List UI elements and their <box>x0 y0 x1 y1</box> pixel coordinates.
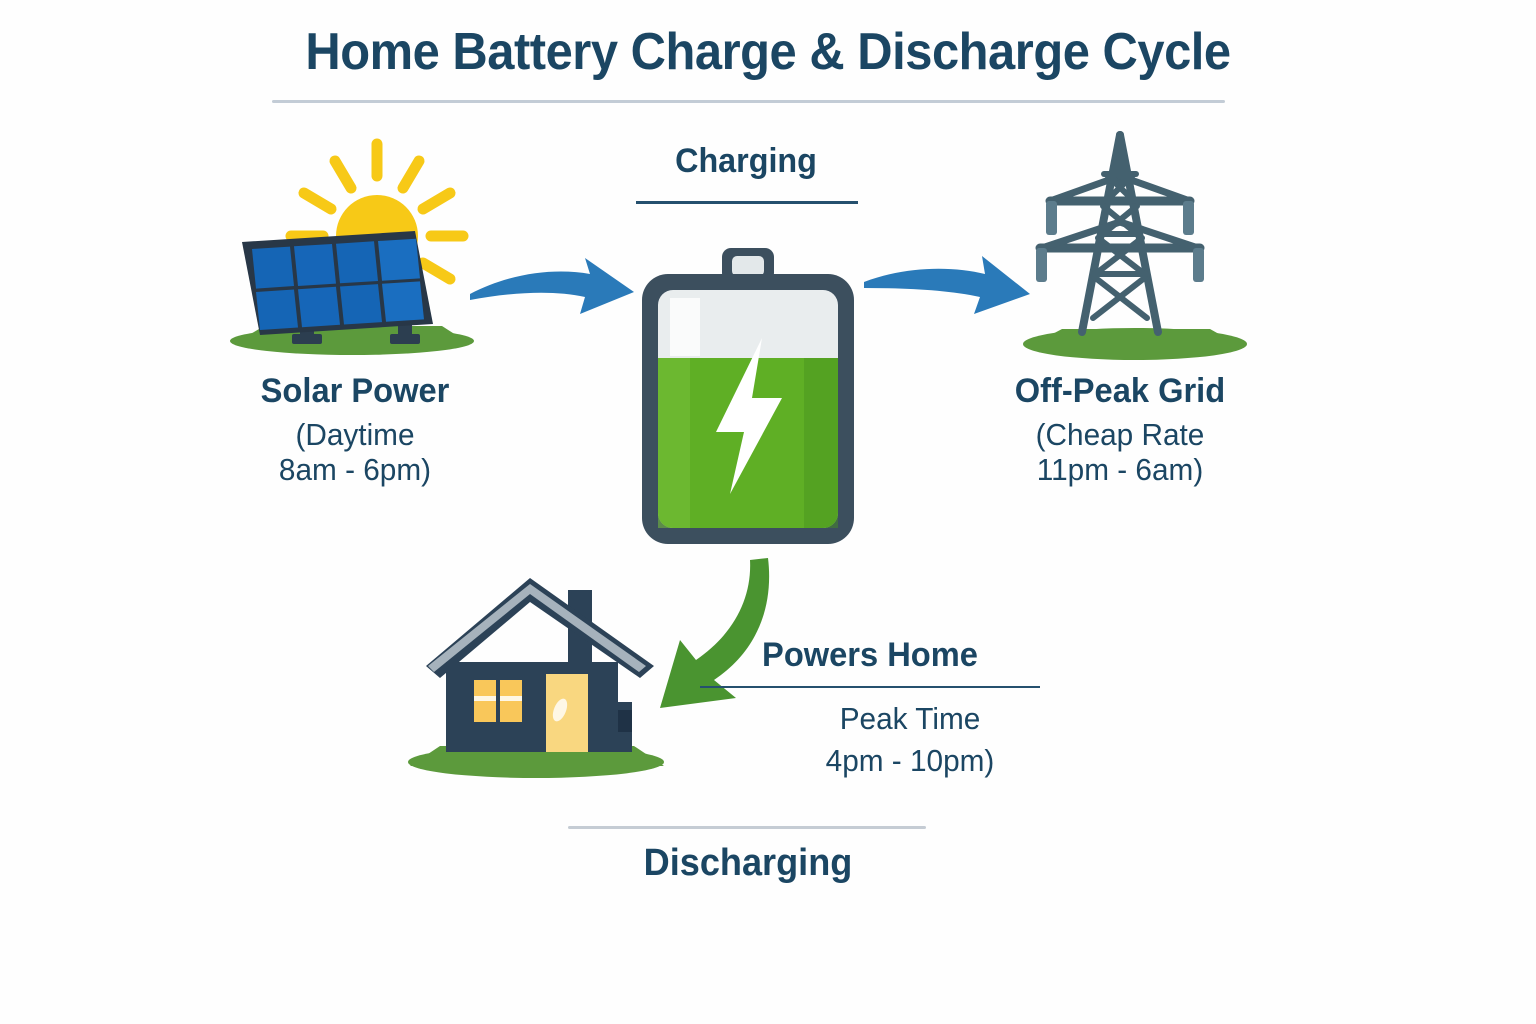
powers-home-divider <box>700 686 1040 688</box>
charging-section-label: Charging <box>626 142 865 181</box>
discharging-section-label: Discharging <box>511 842 986 885</box>
solar-caption: Solar Power (Daytime 8am - 6pm) <box>215 372 495 487</box>
solar-panel-with-sun-icon <box>228 128 498 363</box>
grid-caption-head: Off-Peak Grid <box>986 372 1255 411</box>
charge-arrow-solar <box>462 252 642 337</box>
powers-home-label: Powers Home <box>690 636 1050 675</box>
grid-caption: Off-Peak Grid (Cheap Rate 11pm - 6am) <box>980 372 1260 487</box>
powers-home-sub2: 4pm - 10pm) <box>728 740 1093 782</box>
solar-caption-head: Solar Power <box>221 372 490 411</box>
solar-caption-sub1: (Daytime <box>221 417 490 452</box>
solar-caption-sub2: 8am - 6pm) <box>221 452 490 487</box>
title-divider <box>272 100 1225 103</box>
powers-home-sub: Peak Time 4pm - 10pm) <box>720 698 1100 782</box>
infographic-canvas: Home Battery Charge & Discharge Cycle Ch… <box>0 0 1536 1024</box>
grid-caption-sub2: 11pm - 6am) <box>986 452 1255 487</box>
transmission-tower-icon <box>1020 126 1250 362</box>
charge-arrow-grid <box>858 248 1038 333</box>
powers-home-head: Powers Home <box>697 636 1043 675</box>
house-body <box>446 662 618 752</box>
powers-home-sub1: Peak Time <box>728 698 1093 740</box>
charging-divider <box>636 201 858 204</box>
house-icon <box>408 562 674 782</box>
grid-caption-sub1: (Cheap Rate <box>986 417 1255 452</box>
discharging-divider <box>568 826 926 829</box>
page-title: Home Battery Charge & Discharge Cycle <box>46 22 1490 82</box>
house-door <box>546 674 588 752</box>
battery-charging-icon <box>636 246 860 550</box>
